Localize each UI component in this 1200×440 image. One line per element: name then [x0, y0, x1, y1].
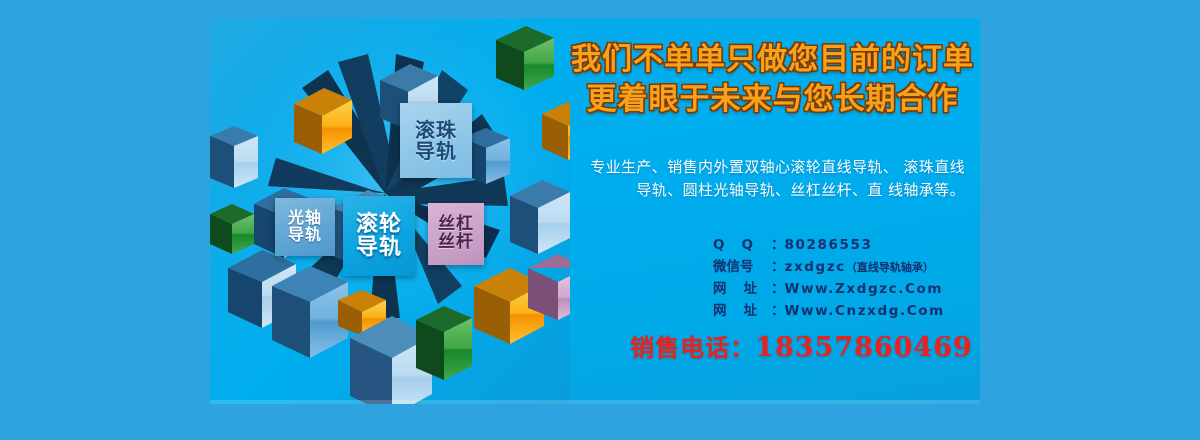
contact-row-qq: QQ ： 80286553	[713, 234, 980, 256]
contact-row-website-1: 网址 ： Www.Zxdgzc.Com	[713, 278, 980, 300]
contact-value-qq: 80286553	[785, 234, 873, 256]
contact-row-website-2: 网址 ： Www.Cnzxdg.Com	[713, 300, 980, 322]
cube-label-guangzhou-daogui: 光轴 导轨	[275, 198, 335, 256]
cube-label-line2: 导轨	[356, 236, 402, 259]
contact-label-website: 网址	[713, 278, 771, 300]
headline: 我们不单单只做您目前的订单 更着眼于未来与您长期合作	[565, 40, 980, 119]
cube-label-line2: 导轨	[288, 227, 322, 244]
sales-phone-label: 销售电话：	[630, 328, 755, 363]
cube-label-sigang-sigan: 丝杠 丝杆	[428, 203, 484, 265]
cube-label-gunlun-daogui: 滚轮 导轨	[343, 196, 415, 276]
cube-label-line2: 导轨	[415, 141, 457, 162]
cube	[416, 306, 472, 380]
cube-label-gunzhu-daogui: 滚珠 导轨	[400, 103, 472, 178]
sales-phone-number: 18357860469	[755, 332, 973, 363]
contact-label-qq: QQ	[713, 234, 771, 256]
promo-banner: 滚珠 导轨 光轴 导轨 滚轮 导轨 丝杠 丝杆 我们不单单只做您目前的订单 更着…	[210, 18, 980, 404]
contact-row-wechat: 微信号 ： zxdgzc （直线导轨轴承）	[713, 256, 980, 278]
description-line-1: 专业生产、销售内外置双轴心滚轮直线导轨、	[590, 158, 898, 176]
contact-colon: ：	[771, 300, 785, 322]
contact-value-wechat: zxdgzc	[785, 256, 846, 278]
cube	[210, 204, 254, 254]
contact-label-website: 网址	[713, 300, 771, 322]
sales-phone: 销售电话： 18357860469	[623, 328, 980, 363]
contact-value-website-2[interactable]: Www.Cnzxdg.Com	[785, 300, 945, 322]
banner-stage: 滚珠 导轨 光轴 导轨 滚轮 导轨 丝杠 丝杆 我们不单单只做您目前的订单 更着…	[0, 0, 1200, 440]
description: 专业生产、销售内外置双轴心滚轮直线导轨、 滚珠直线导轨、圆柱光轴导轨、丝杠丝杆、…	[583, 156, 965, 203]
contact-block: QQ ： 80286553 微信号 ： zxdgzc （直线导轨轴承） 网址 ：…	[713, 234, 980, 322]
contact-note-wechat: （直线导轨轴承）	[846, 259, 934, 277]
cube-label-line2: 丝杆	[438, 234, 474, 252]
contact-label-wechat: 微信号	[713, 256, 771, 278]
contact-colon: ：	[771, 256, 785, 278]
description-line-3: 线轴承等。	[888, 181, 965, 199]
cube	[210, 126, 258, 188]
headline-line-2: 更着眼于未来与您长期合作	[565, 80, 980, 120]
cube-label-line1: 滚珠	[415, 120, 457, 141]
headline-line-1: 我们不单单只做您目前的订单	[565, 40, 980, 80]
contact-value-website-1[interactable]: Www.Zxdgzc.Com	[785, 278, 944, 300]
cube-label-line1: 滚轮	[356, 213, 402, 236]
banner-content: 我们不单单只做您目前的订单 更着眼于未来与您长期合作 专业生产、销售内外置双轴心…	[565, 18, 980, 404]
contact-colon: ：	[771, 278, 785, 300]
contact-colon: ：	[771, 234, 785, 256]
